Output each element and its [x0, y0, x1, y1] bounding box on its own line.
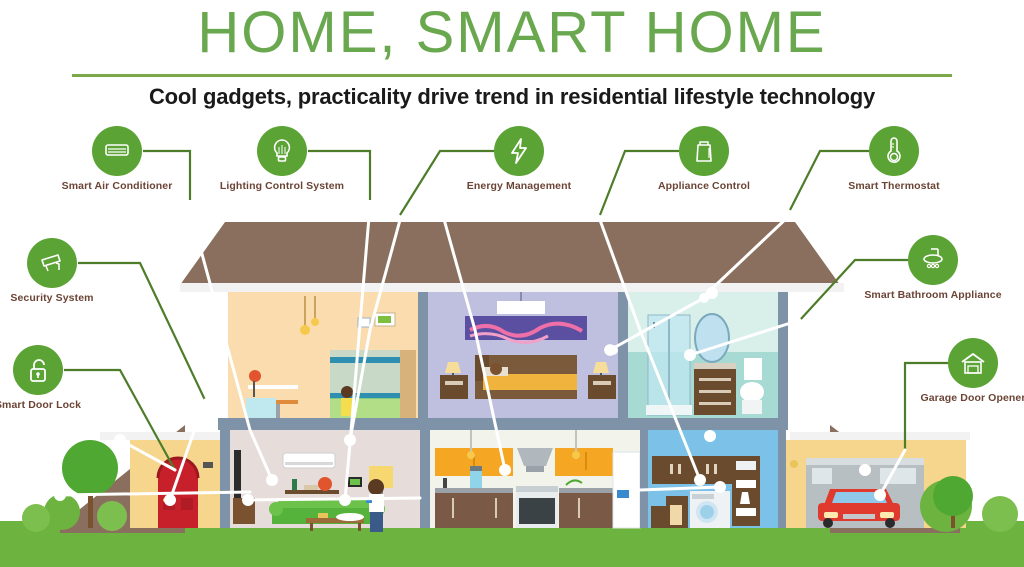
endpoint-bath-light	[706, 287, 718, 299]
connector-lines-white	[0, 0, 1024, 567]
white-garage	[880, 450, 905, 495]
endpoint-energy	[499, 464, 511, 476]
endpoint-lighting-1	[339, 494, 351, 506]
white-thermostat	[610, 215, 790, 350]
endpoint-appliance	[694, 474, 706, 486]
white-living-cross2	[248, 498, 420, 500]
endpoint-ac	[266, 474, 278, 486]
endpoint-garage	[874, 489, 886, 501]
endpoint-cross-3	[714, 481, 726, 493]
endpoint-bathroom	[684, 349, 696, 361]
white-energy	[440, 205, 505, 470]
white-doorlock	[120, 440, 175, 470]
endpoint-cross-1	[54, 489, 66, 501]
endpoint-bed-therm	[608, 345, 618, 355]
white-security	[170, 400, 205, 500]
white-bathroom	[690, 320, 800, 355]
endpoint-doorlock	[114, 434, 126, 446]
endpoint-security	[164, 494, 176, 506]
white-living-cross	[60, 492, 250, 495]
endpoint-lighting-2	[344, 434, 356, 446]
white-laundry-cross	[640, 487, 720, 490]
white-ac-living	[190, 210, 272, 480]
endpoint-cross-2	[242, 494, 254, 506]
white-lighting-2	[350, 220, 400, 440]
